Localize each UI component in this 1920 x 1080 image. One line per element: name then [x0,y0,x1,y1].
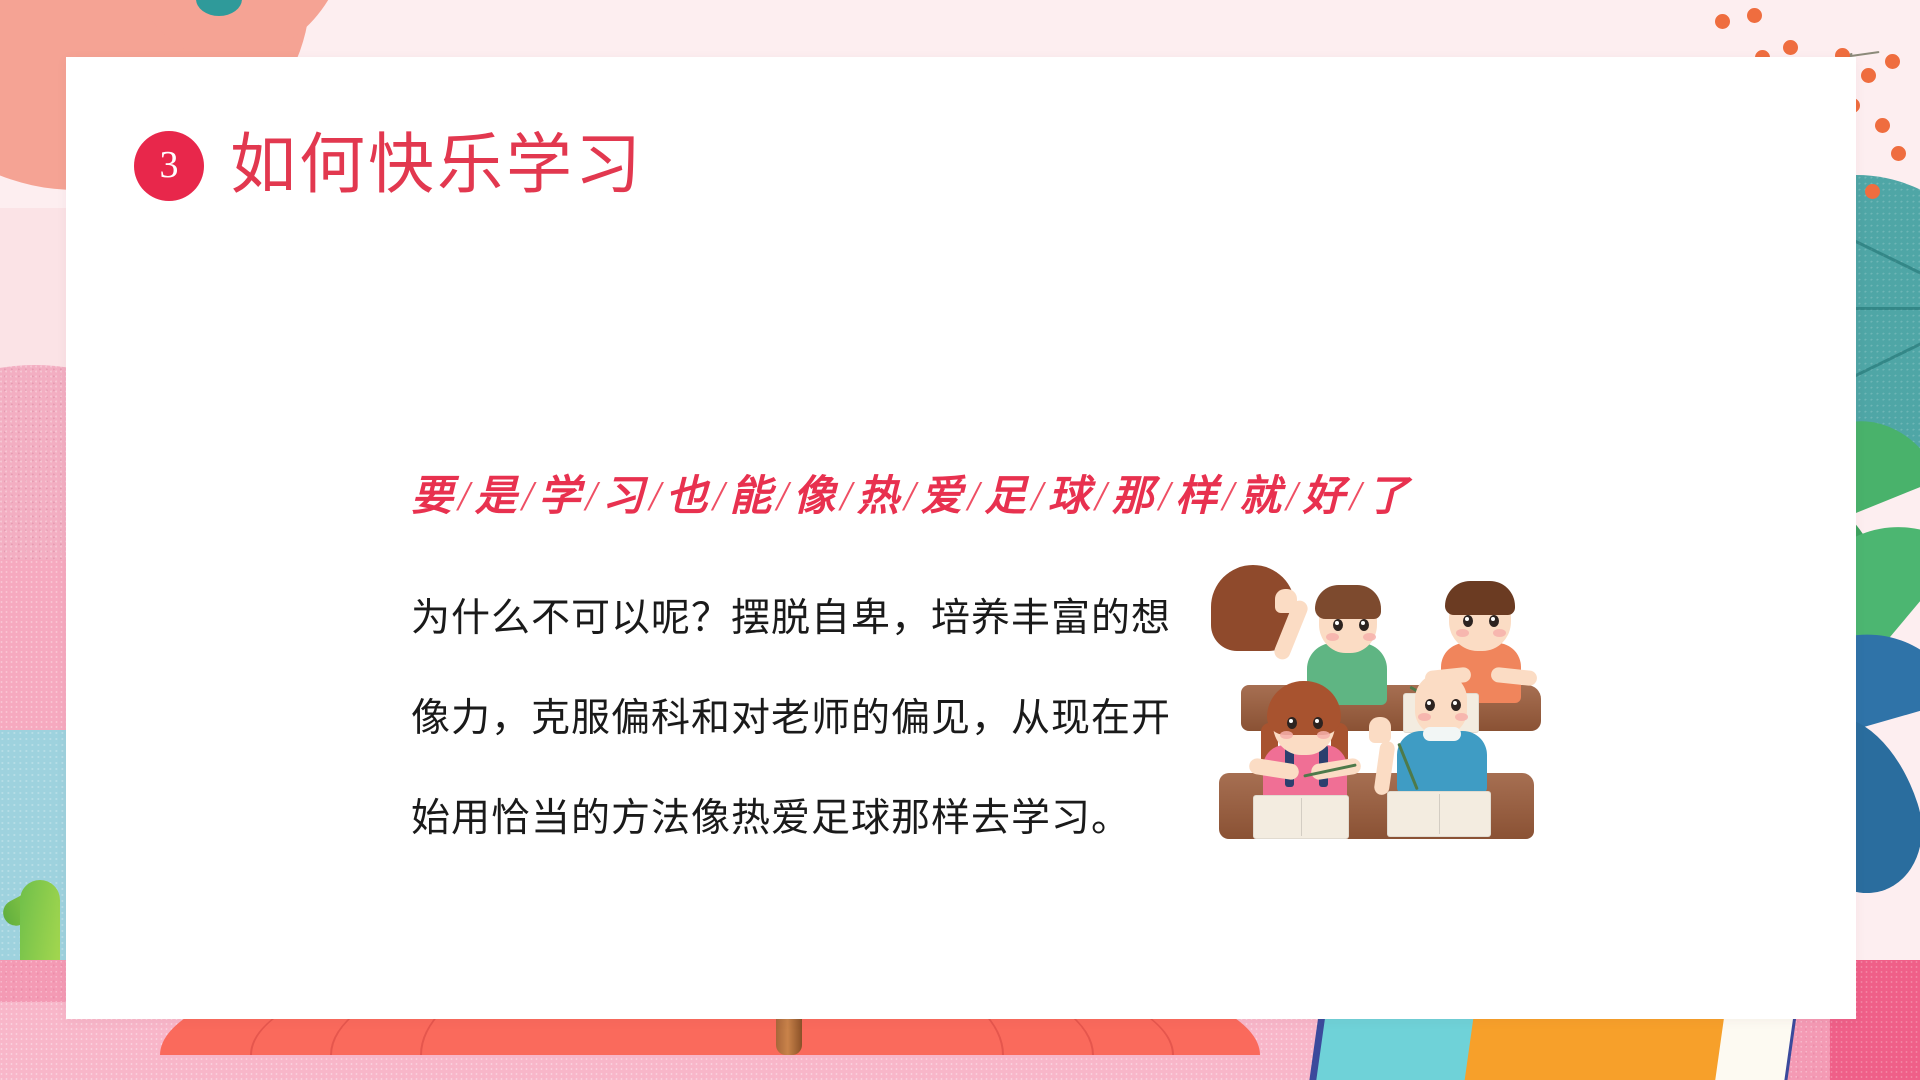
slogan-char: 要 [411,474,455,520]
slogan-separator: / [710,474,730,520]
slogan-char: 学 [538,474,582,520]
slogan-char: 好 [1303,474,1347,520]
students-at-desks-illustration [1211,565,1551,857]
slogan-separator: / [773,474,793,520]
slogan-separator: / [1156,474,1176,520]
slogan-char: 球 [1048,474,1092,520]
raised-hand-icon [1275,589,1297,613]
body-line: 像力，克服偏科和对老师的偏见，从现在开 [411,669,1211,769]
slogan-separator: / [582,474,602,520]
open-book-front-left [1253,795,1349,839]
slogan-char: 像 [793,474,837,520]
slogan-char: 是 [475,474,519,520]
slogan-char: 爱 [921,474,965,520]
slogan-char: 了 [1366,474,1410,520]
slogan-separator: / [901,474,921,520]
slogan-separator: / [1283,474,1303,520]
slogan-char: 那 [1112,474,1156,520]
slogan-char: 就 [1239,474,1283,520]
body-paragraph: 为什么不可以呢？摆脱自卑，培养丰富的想 像力，克服偏科和对老师的偏见，从现在开 … [411,569,1211,869]
open-book-front-right [1387,791,1491,837]
slogan-separator: / [837,474,857,520]
body-line: 为什么不可以呢？摆脱自卑，培养丰富的想 [411,569,1211,669]
slogan-separator: / [1028,474,1048,520]
slogan-char: 习 [602,474,646,520]
slogan-separator: / [965,474,985,520]
slogan-separator: / [646,474,666,520]
slogan-char: 能 [729,474,773,520]
slide-canvas: 3 如何快乐学习 要/是/学/习/也/能/像/热/爱/足/球/那/样/就/好/了… [0,0,1920,1080]
slogan-separator: / [1092,474,1112,520]
slogan-char: 样 [1175,474,1219,520]
page-title: 如何快乐学习 [230,133,644,199]
raised-hand-icon [1369,717,1391,743]
slide-title-row: 3 如何快乐学习 [134,131,644,201]
slogan-separator: / [1347,474,1367,520]
slogan-char: 热 [857,474,901,520]
body-line: 始用恰当的方法像热爱足球那样去学习。 [411,769,1211,869]
highlight-slogan: 要/是/学/习/也/能/像/热/爱/足/球/那/样/就/好/了 [411,462,1410,523]
slogan-char: 足 [984,474,1028,520]
slogan-separator: / [1219,474,1239,520]
slogan-separator: / [519,474,539,520]
slogan-separator: / [455,474,475,520]
slogan-char: 也 [666,474,710,520]
section-number-badge: 3 [134,131,204,201]
content-card: 3 如何快乐学习 要/是/学/习/也/能/像/热/爱/足/球/那/样/就/好/了… [66,57,1856,1019]
